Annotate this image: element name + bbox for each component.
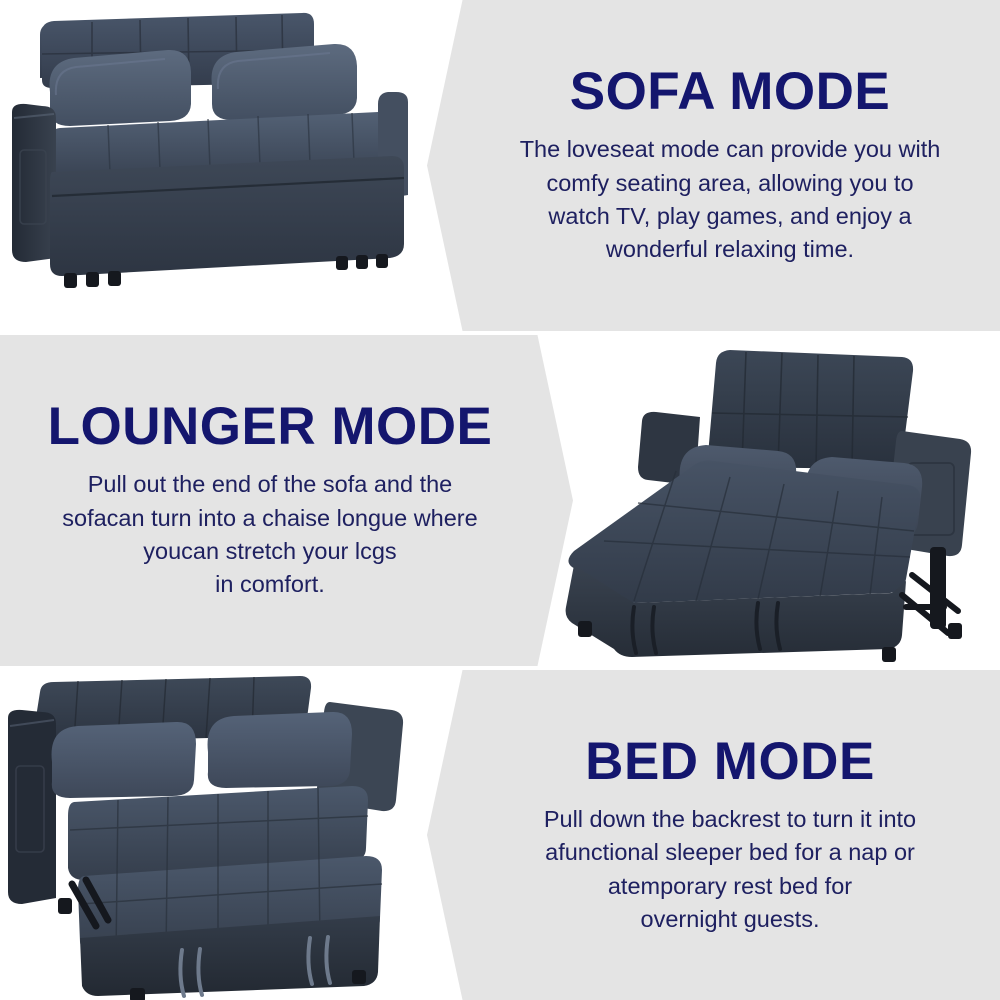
panel-2-body-line-4: in comfort. [62, 568, 477, 601]
panel-lounger-mode: LOUNGER MODE Pull out the end of the sof… [0, 335, 1000, 666]
panel-1-body-line-3: watch TV, play games, and enjoy a [520, 200, 941, 233]
panel-2-body-line-1: Pull out the end of the sofa and the [62, 468, 477, 501]
panel-3-body-line-2: afunctional sleeper bed for a nap or [544, 836, 916, 869]
panel-3-body-line-1: Pull down the backrest to turn it into [544, 803, 916, 836]
panel-1-body: The loveseat mode can provide you with c… [520, 133, 941, 266]
panel-3-text: BED MODE Pull down the backrest to turn … [460, 670, 1000, 1000]
panel-3-body: Pull down the backrest to turn it into a… [544, 803, 916, 936]
panel-1-text: SOFA MODE The loveseat mode can provide … [460, 0, 1000, 331]
panel-3-body-line-4: overnight guests. [544, 903, 916, 936]
panel-bed-mode: BED MODE Pull down the backrest to turn … [0, 670, 1000, 1000]
panel-1-heading: SOFA MODE [570, 64, 891, 119]
panel-3-body-line-3: atemporary rest bed for [544, 870, 916, 903]
panel-2-body: Pull out the end of the sofa and the sof… [62, 468, 477, 601]
panel-1-body-line-4: wonderful relaxing time. [520, 233, 941, 266]
panel-2-product-photo [530, 335, 1000, 666]
panel-sofa-mode: SOFA MODE The loveseat mode can provide … [0, 0, 1000, 331]
panel-3-product-photo [0, 670, 470, 1000]
panel-1-product-photo [0, 0, 470, 331]
panel-2-heading: LOUNGER MODE [48, 399, 493, 454]
panel-2-text: LOUNGER MODE Pull out the end of the sof… [0, 335, 540, 666]
panel-3-heading: BED MODE [585, 734, 875, 789]
panel-2-body-line-3: youcan stretch your lcgs [62, 535, 477, 568]
infographic-page: SOFA MODE The loveseat mode can provide … [0, 0, 1000, 1000]
panel-2-body-line-2: sofacan turn into a chaise longue where [62, 502, 477, 535]
panel-1-body-line-2: comfy seating area, allowing you to [520, 167, 941, 200]
panel-1-body-line-1: The loveseat mode can provide you with [520, 133, 941, 166]
